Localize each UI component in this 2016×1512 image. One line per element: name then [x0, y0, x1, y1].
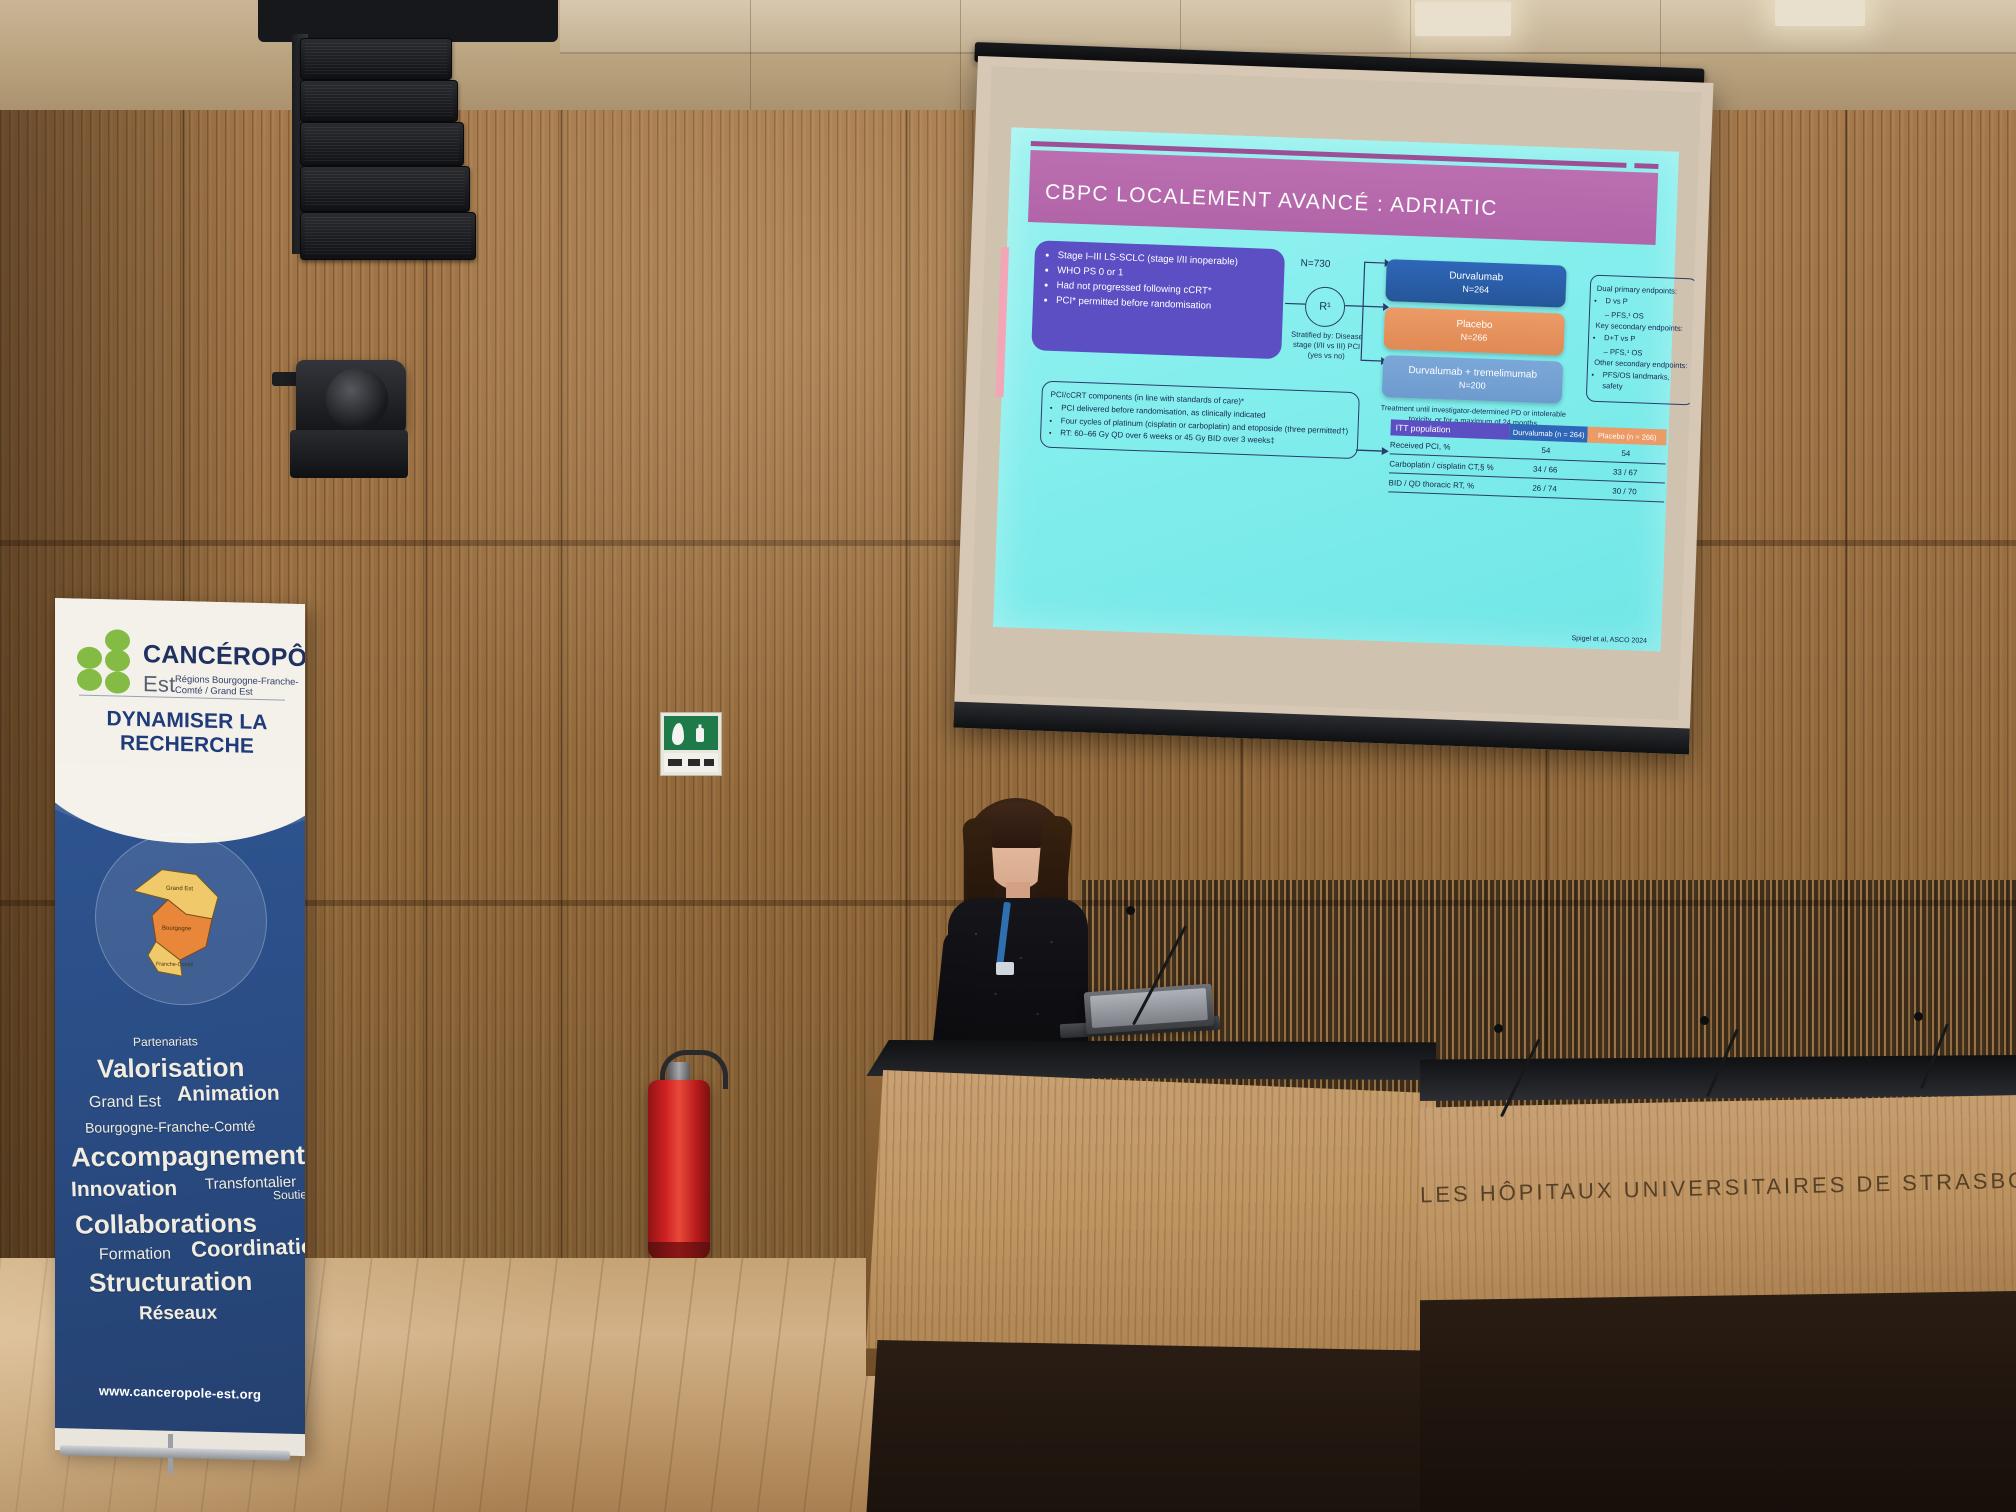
row-value-placebo: 30 / 70 [1584, 481, 1665, 502]
arm-placebo: Placebo N=266 [1384, 307, 1565, 356]
ceiling-light [1415, 2, 1511, 36]
svg-text:Bourgogne: Bourgogne [162, 926, 192, 933]
itt-population-table: ITT population Durvalumab (n = 264) Plac… [1388, 419, 1666, 502]
presentation-slide: CBPC LOCALEMENT AVANCÉ : ADRIATIC Stage … [993, 127, 1679, 651]
arm-durvalumab-tremelimumab: Durvalumab + tremelimumab N=200 [1382, 355, 1563, 404]
slide-title: CBPC LOCALEMENT AVANCÉ : ADRIATIC [1045, 181, 1499, 222]
wordcloud-word: Formation [99, 1246, 172, 1265]
banner-wave-shape [55, 763, 305, 841]
svg-text:Grand Est: Grand Est [166, 886, 193, 893]
line-array-loudspeaker [300, 38, 476, 248]
wordcloud-word: Partenariats [133, 1034, 198, 1049]
region-map-icon: Grand Est Bourgogne Franche-Comté [122, 855, 240, 984]
ceiling-panel [560, 0, 751, 120]
fire-extinguisher [648, 1080, 710, 1260]
auditorium-photo: CBPC LOCALEMENT AVANCÉ : ADRIATIC Stage … [0, 0, 2016, 1512]
row-label: BID / QD thoracic RT, % [1388, 473, 1505, 495]
row-value-durvalumab: 34 / 66 [1505, 459, 1586, 480]
microphone-head [1494, 1024, 1503, 1033]
exit-sign-pictogram [664, 716, 718, 750]
row-value-placebo: 54 [1586, 443, 1667, 464]
ceiling-light [1775, 0, 1865, 26]
secondary-endpoint-item: D+T vs P [1604, 332, 1689, 346]
region-map-circle: Grand Est Bourgogne Franche-Comté [95, 831, 267, 1007]
eligibility-criteria-box: Stage I–III LS-SCLC (stage I/II inoperab… [1031, 240, 1285, 359]
row-value-placebo: 33 / 67 [1585, 462, 1666, 483]
arm-n: N=264 [1462, 284, 1489, 296]
canceropole-logo-icon [77, 629, 139, 697]
ceiling-panel [750, 0, 961, 120]
endpoints-box: Dual primary endpoints: D vs P – PFS,¹ O… [1586, 275, 1699, 406]
row-value-durvalumab: 26 / 74 [1504, 478, 1585, 499]
exit-sign [660, 712, 722, 776]
arm-n: N=200 [1459, 379, 1486, 391]
microphone-head [1700, 1016, 1709, 1025]
slide-edge-stripe [996, 247, 1009, 397]
banner-wordcloud: Partenariats Valorisation Animation Gran… [55, 1030, 305, 1366]
lectern-front-panel [866, 1070, 1436, 1360]
rollup-banner: CANCÉROPÔLE Est Régions Bourgogne-Franch… [55, 598, 305, 1456]
arm-name: Durvalumab [1449, 271, 1503, 285]
other-endpoint-item: PFS/OS landmarks, safety [1602, 369, 1688, 394]
exit-arrow-icon [664, 753, 718, 772]
logo-subtitle: Régions Bourgogne-Franche-Comté / Grand … [175, 673, 305, 698]
wordcloud-word: Réseaux [139, 1303, 218, 1326]
panel-table: LES HÔPITAUX UNIVERSITAIRES DE STRASBOUR… [1420, 1055, 2016, 1512]
arm-durvalumab: Durvalumab N=264 [1385, 259, 1566, 308]
speaker-enclosure [290, 430, 408, 478]
microphone-head [1126, 906, 1135, 915]
exit-sign-text-panel [664, 753, 718, 772]
lectern-base [866, 1340, 1436, 1512]
projection-screen: CBPC LOCALEMENT AVANCÉ : ADRIATIC Stage … [953, 56, 1713, 755]
extinguisher-pictogram-icon [690, 723, 710, 747]
svg-text:Franche-Comté: Franche-Comté [156, 961, 193, 968]
wordcloud-word: Bourgogne-Franche-Comté [85, 1118, 256, 1136]
panel-table-base [1420, 1291, 2016, 1512]
slide-citation: Spigel et al, ASCO 2024 [1571, 635, 1647, 645]
banner-website-url: www.canceropole-est.org [55, 1382, 305, 1403]
wall-seam [425, 110, 428, 1270]
logo-name-light: Est [143, 671, 175, 697]
wordcloud-word: Innovation [71, 1177, 178, 1202]
arm-n: N=266 [1460, 332, 1487, 344]
wordcloud-word: Animation [177, 1082, 280, 1107]
wordcloud-word: Accompagnement [71, 1140, 305, 1173]
logo-name-bold: CANCÉROPÔLE [143, 640, 305, 673]
wordcloud-word: Structuration [89, 1266, 253, 1299]
wordcloud-word: Coordination [190, 1233, 305, 1263]
name-badge [996, 962, 1014, 975]
pci-ccrt-components-box: PCI/cCRT components (in line with standa… [1040, 381, 1360, 459]
lectern-slat-texture [866, 1070, 1436, 1360]
wordcloud-word: Grand Est [89, 1093, 162, 1112]
primary-endpoint-item: D vs P [1605, 295, 1690, 309]
wordcloud-word: Valorisation [97, 1052, 245, 1085]
projection-screen-surface: CBPC LOCALEMENT AVANCÉ : ADRIATIC Stage … [969, 67, 1702, 721]
headline-line-1: DYNAMISER LA RECHERCHE [106, 707, 267, 758]
lectern [866, 1040, 1436, 1512]
flame-icon [672, 723, 684, 745]
microphone-head [1914, 1012, 1923, 1021]
wordcloud-word: Soutien [273, 1187, 305, 1202]
wall-loudspeaker [296, 360, 406, 438]
row-value-durvalumab: 54 [1506, 440, 1587, 461]
speaker-cone [326, 368, 388, 430]
slide-title-band: CBPC LOCALEMENT AVANCÉ : ADRIATIC [1028, 150, 1658, 245]
banner-body: Grand Est Bourgogne Franche-Comté Parten… [55, 784, 305, 1456]
